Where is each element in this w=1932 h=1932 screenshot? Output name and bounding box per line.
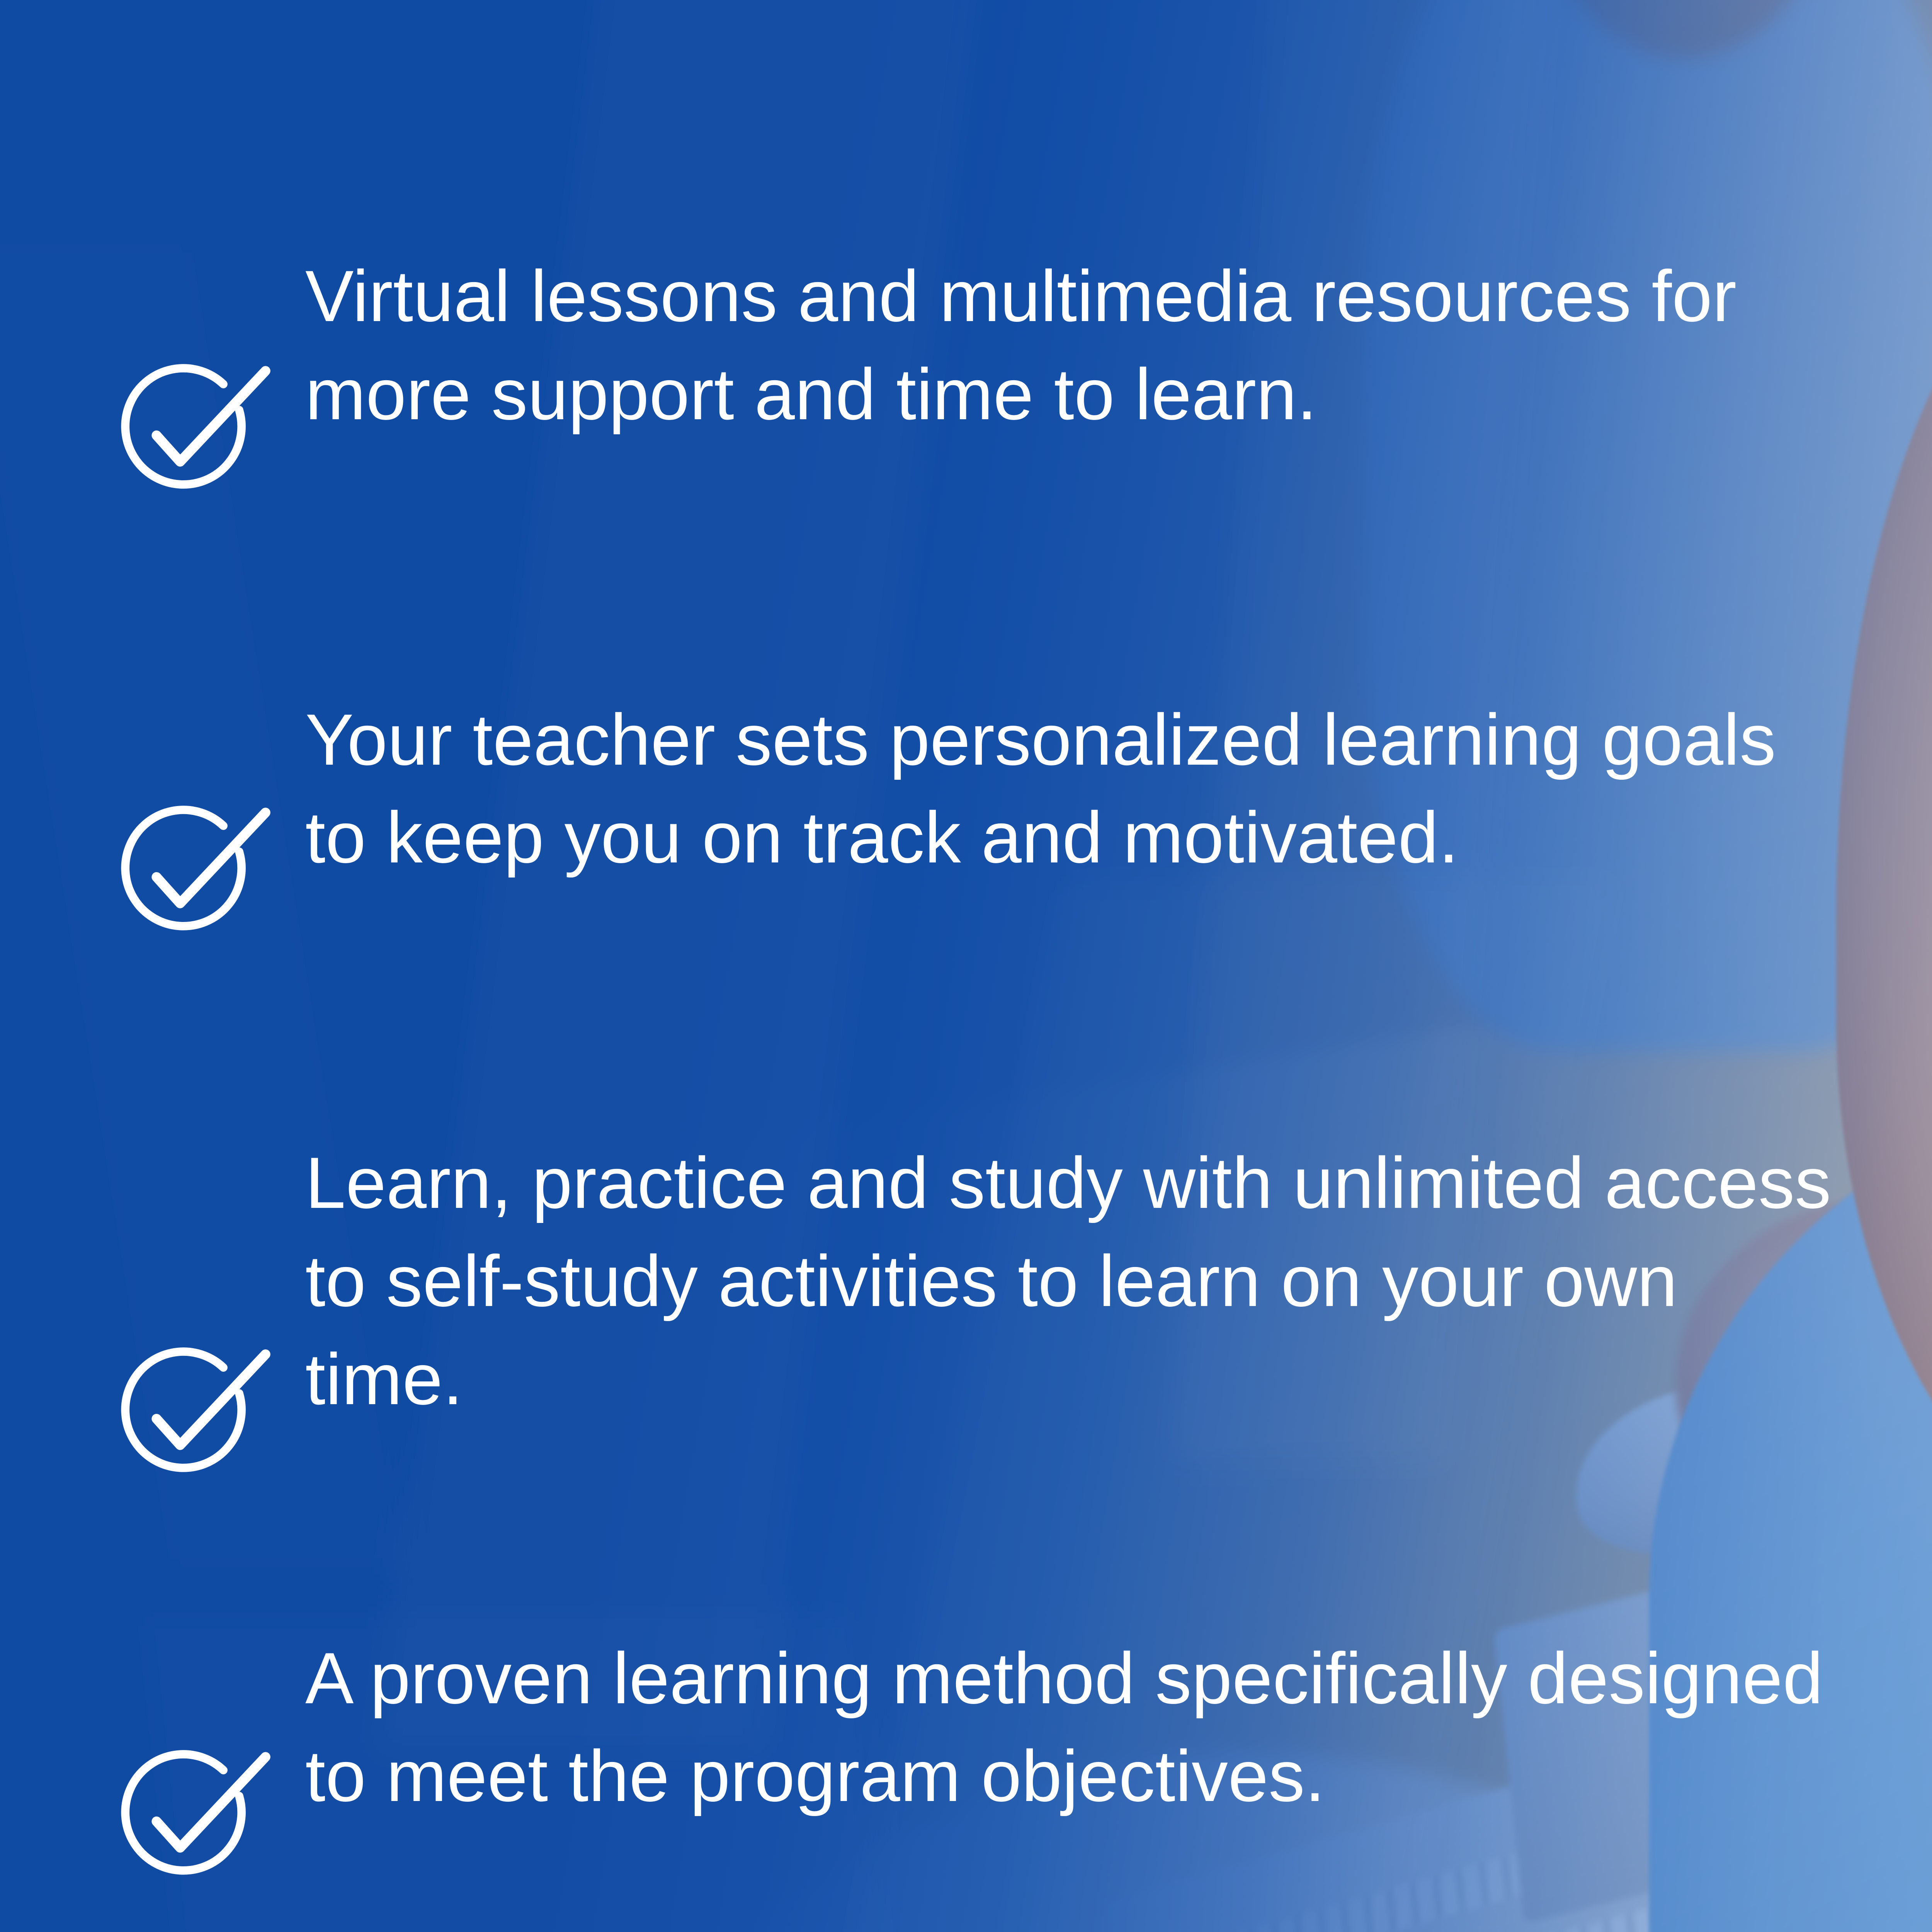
- list-item-label: Learn, practice and study with unlimited…: [305, 1134, 1843, 1428]
- list-item: Learn, practice and study with unlimited…: [0, 1134, 1932, 1428]
- check-circle-icon: [97, 340, 305, 522]
- benefits-promo-card: Virtual lessons and multimedia resources…: [0, 0, 1932, 1932]
- list-item: A proven learning method specifically de…: [0, 1629, 1932, 1826]
- list-item: Virtual lessons and multimedia resources…: [0, 247, 1932, 444]
- check-circle-icon: [97, 1323, 305, 1505]
- list-item-label: Your teacher sets personalized learning …: [305, 691, 1843, 887]
- list-item-label: Virtual lessons and multimedia resources…: [305, 247, 1843, 444]
- check-circle-icon: [97, 782, 305, 963]
- list-item: Your teacher sets personalized learning …: [0, 691, 1932, 887]
- check-circle-icon: [97, 1726, 305, 1908]
- benefits-list: Virtual lessons and multimedia resources…: [0, 0, 1932, 1932]
- list-item-label: A proven learning method specifically de…: [305, 1629, 1843, 1826]
